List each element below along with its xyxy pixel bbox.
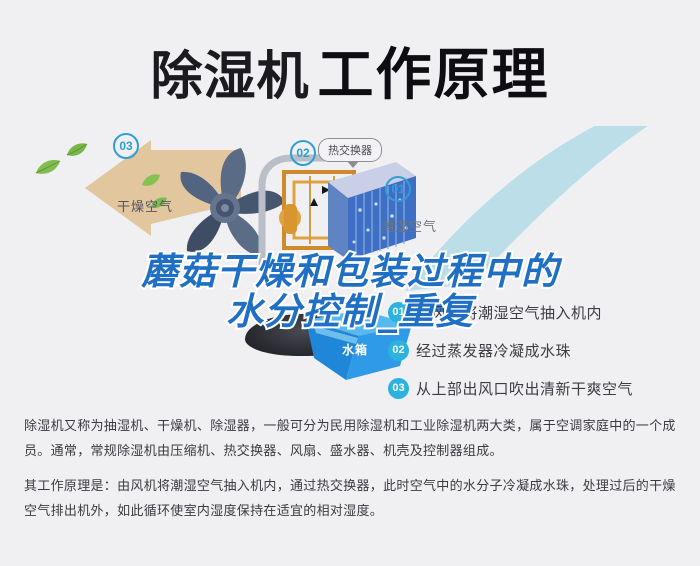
paragraph-2: 其工作原理是：由风机将潮湿空气抽入机内，通过热交换器，此时空气中的水分子冷凝成水… [24, 474, 680, 524]
body-copy: 除湿机又称为抽湿机、干燥机、除湿器，一般可分为民用除湿机和工业除湿机两大类，属于… [24, 414, 680, 534]
legend-badge-02: 02 [388, 340, 409, 361]
leaf-icon-3 [141, 173, 161, 188]
legend-list: 01 由风机将潮湿空气抽入机内 02 经过蒸发器冷凝成水珠 03 从上部出风口吹… [388, 293, 688, 407]
leaf-icon-2 [35, 158, 61, 176]
humid-air-label: 潮湿空气 [381, 216, 437, 235]
list-item: 02 经过蒸发器冷凝成水珠 [388, 331, 688, 369]
dry-air-label: 干燥空气 [117, 196, 173, 215]
humid-air-swoosh-icon [395, 126, 665, 296]
page-root: 除湿机工作原理 [0, 0, 700, 566]
page-title: 除湿机工作原理 [0, 30, 700, 111]
legend-text-01: 由风机将潮湿空气抽入机内 [416, 302, 602, 323]
water-tank-label: 水箱 [342, 341, 368, 358]
legend-text-03: 从上部出风口吹出清新干爽空气 [416, 378, 633, 399]
list-item: 01 由风机将潮湿空气抽入机内 [388, 293, 688, 331]
heat-exchanger-icon [310, 160, 420, 265]
title-part-2: 工作原理 [318, 43, 550, 108]
title-part-1: 除湿机 [150, 47, 309, 107]
legend-badge-03: 03 [388, 378, 409, 399]
paragraph-1: 除湿机又称为抽湿机、干燥机、除湿器，一般可分为民用除湿机和工业除湿机两大类，属于… [24, 414, 680, 464]
diagram-badge-03: 03 [113, 133, 139, 159]
diagram-badge-02: 02 [290, 140, 316, 166]
legend-badge-01: 01 [388, 302, 409, 323]
legend-text-02: 经过蒸发器冷凝成水珠 [416, 340, 571, 361]
heat-exchanger-callout: 热交换器 [318, 138, 382, 162]
diagram-badge-01: 01 [385, 176, 411, 202]
list-item: 03 从上部出风口吹出清新干爽空气 [388, 369, 688, 407]
leaf-icon-1 [66, 142, 88, 158]
